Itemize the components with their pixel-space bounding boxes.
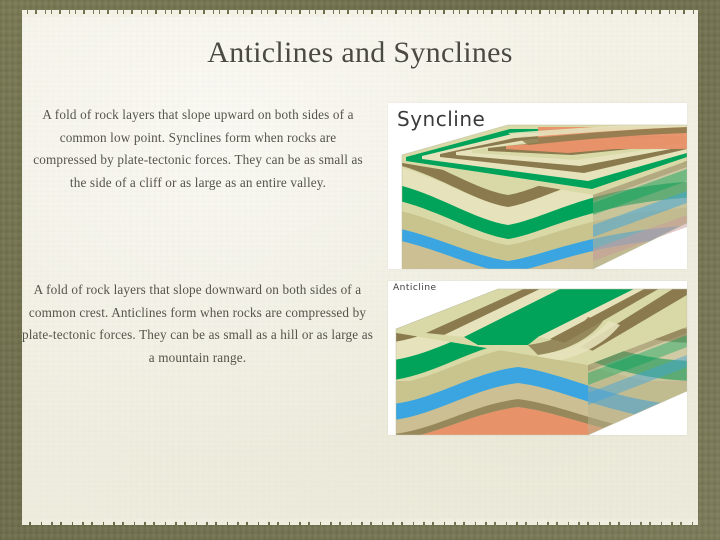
paragraph-anticline: A fold of rock layers that slope downwar… — [20, 279, 375, 370]
slide-canvas: Anticlines and Synclines A fold of rock … — [0, 0, 720, 540]
figure-syncline: Syncline — [388, 103, 687, 269]
figure-anticline: Anticline — [388, 281, 687, 435]
syncline-block-diagram — [388, 103, 687, 269]
paragraph-syncline: A fold of rock layers that slope upward … — [28, 104, 368, 195]
anticline-block-diagram — [388, 281, 687, 435]
page-title: Anticlines and Synclines — [0, 36, 720, 70]
